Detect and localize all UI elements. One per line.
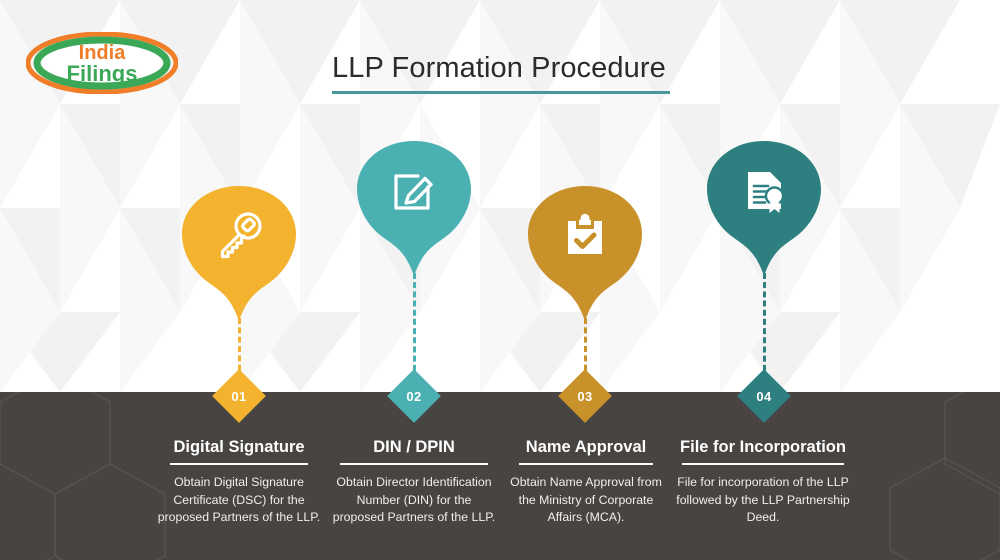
step-description-1: Obtain Digital Signature Certificate (DS… bbox=[155, 474, 323, 527]
step-text-4: File for Incorporation File for incorpor… bbox=[675, 437, 851, 527]
step-number-2: 02 bbox=[392, 389, 436, 404]
step-number-4: 04 bbox=[742, 389, 786, 404]
page-title: LLP Formation Procedure bbox=[332, 50, 670, 86]
step-heading-2: DIN / DPIN bbox=[330, 437, 498, 457]
step-heading-underline-2 bbox=[340, 463, 488, 465]
step-pin-4[interactable] bbox=[707, 141, 821, 276]
clipboard-check-icon bbox=[559, 209, 611, 261]
step-text-2: DIN / DPIN Obtain Director Identificatio… bbox=[330, 437, 498, 527]
connector-dashed-4 bbox=[763, 273, 766, 380]
step-text-3: Name Approval Obtain Name Approval from … bbox=[502, 437, 670, 527]
edit-square-pencil-icon bbox=[388, 164, 440, 216]
step-description-2: Obtain Director Identification Number (D… bbox=[330, 474, 498, 527]
infographic-slide: India Filings LLP Formation Procedure bbox=[0, 0, 1000, 560]
title-underline bbox=[332, 91, 670, 94]
connector-dashed-2 bbox=[413, 273, 416, 380]
step-pin-3[interactable] bbox=[528, 186, 642, 321]
step-heading-underline-1 bbox=[170, 463, 308, 465]
key-icon bbox=[213, 209, 265, 261]
india-filings-logo: India Filings bbox=[26, 32, 178, 94]
step-heading-3: Name Approval bbox=[502, 437, 670, 457]
certificate-award-icon bbox=[738, 164, 790, 216]
step-heading-underline-3 bbox=[519, 463, 653, 465]
logo-line2: Filings bbox=[67, 61, 138, 86]
step-number-1: 01 bbox=[217, 389, 261, 404]
step-heading-4: File for Incorporation bbox=[675, 437, 851, 457]
step-description-3: Obtain Name Approval from the Ministry o… bbox=[502, 474, 670, 527]
title-block: LLP Formation Procedure bbox=[332, 50, 670, 94]
step-heading-1: Digital Signature bbox=[155, 437, 323, 457]
step-pin-1[interactable] bbox=[182, 186, 296, 321]
step-description-4: File for incorporation of the LLP follow… bbox=[675, 474, 851, 527]
step-pin-2[interactable] bbox=[357, 141, 471, 276]
step-heading-underline-4 bbox=[682, 463, 844, 465]
step-text-1: Digital Signature Obtain Digital Signatu… bbox=[155, 437, 323, 527]
step-number-3: 03 bbox=[563, 389, 607, 404]
